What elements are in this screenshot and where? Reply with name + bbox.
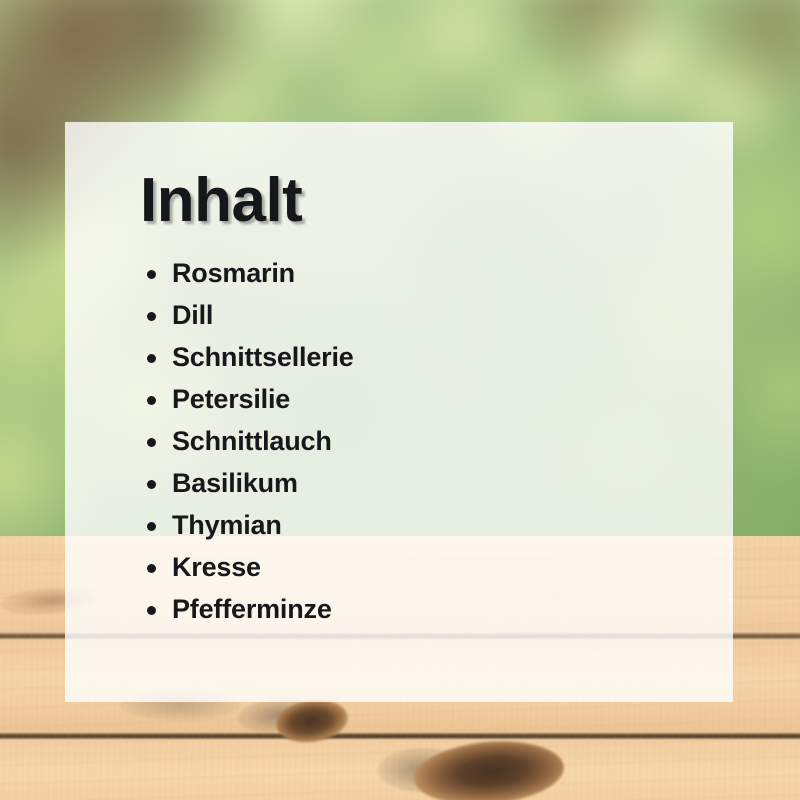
list-item: Schnittlauch bbox=[140, 424, 693, 459]
content-card: Inhalt Rosmarin Dill Schnittsellerie Pet… bbox=[65, 122, 733, 702]
bullet-icon bbox=[147, 564, 156, 573]
list-item: Thymian bbox=[140, 508, 693, 543]
bullet-icon bbox=[147, 606, 156, 615]
bullet-icon bbox=[147, 438, 156, 447]
list-item: Kresse bbox=[140, 550, 693, 585]
bullet-icon bbox=[147, 312, 156, 321]
list-item: Dill bbox=[140, 298, 693, 333]
list-item-label: Schnittsellerie bbox=[172, 342, 354, 372]
bullet-icon bbox=[147, 396, 156, 405]
bullet-icon bbox=[147, 354, 156, 363]
bullet-icon bbox=[147, 270, 156, 279]
list-item-label: Kresse bbox=[172, 552, 261, 582]
ingredient-list: Rosmarin Dill Schnittsellerie Petersilie… bbox=[140, 256, 693, 627]
list-item: Basilikum bbox=[140, 466, 693, 501]
list-item: Schnittsellerie bbox=[140, 340, 693, 375]
bullet-icon bbox=[147, 480, 156, 489]
list-item-label: Basilikum bbox=[172, 468, 298, 498]
list-item-label: Pfefferminze bbox=[172, 594, 332, 624]
list-item: Rosmarin bbox=[140, 256, 693, 291]
image-canvas: Inhalt Rosmarin Dill Schnittsellerie Pet… bbox=[0, 0, 800, 800]
bullet-icon bbox=[147, 522, 156, 531]
list-item-label: Dill bbox=[172, 300, 213, 330]
list-item-label: Thymian bbox=[172, 510, 282, 540]
list-item-label: Schnittlauch bbox=[172, 426, 332, 456]
list-item-label: Rosmarin bbox=[172, 258, 295, 288]
list-item: Pfefferminze bbox=[140, 592, 693, 627]
list-item-label: Petersilie bbox=[172, 384, 290, 414]
page-title: Inhalt bbox=[140, 170, 693, 232]
list-item: Petersilie bbox=[140, 382, 693, 417]
